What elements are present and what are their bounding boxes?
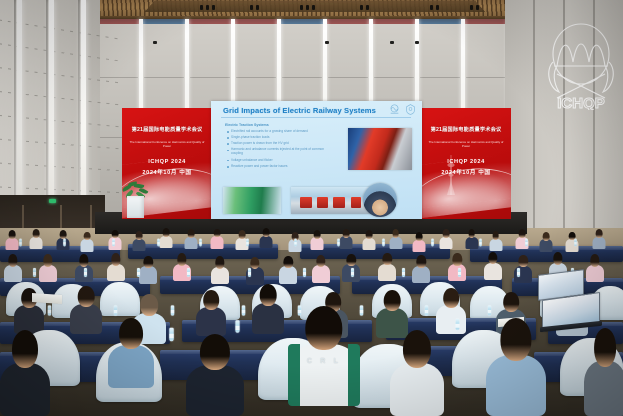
audience-member xyxy=(339,229,352,249)
water-bottle xyxy=(242,305,245,315)
person-torso xyxy=(260,236,273,248)
person-head xyxy=(78,286,95,307)
panel-seam xyxy=(282,77,322,78)
audience-member xyxy=(196,290,226,336)
audience-member xyxy=(81,232,94,252)
audience-member xyxy=(489,231,502,251)
audience-member xyxy=(133,231,146,251)
ceiling-center-beam xyxy=(145,0,486,11)
bullet-item: Single-phase traction loads xyxy=(231,136,335,140)
wall-fixture xyxy=(325,41,329,44)
audience-member xyxy=(390,330,444,416)
banner-code-sub: 2024年10月 中国 xyxy=(421,168,511,176)
person-head xyxy=(416,232,423,241)
ceiling-spotlight xyxy=(212,5,215,10)
ceiling-spotlight xyxy=(200,5,203,10)
water-bottle xyxy=(525,239,528,247)
person-torso xyxy=(196,307,226,336)
water-bottle xyxy=(187,268,190,277)
person-torso xyxy=(211,236,224,248)
person-head xyxy=(442,229,449,238)
person-head xyxy=(260,284,277,306)
panel-seam xyxy=(144,77,184,78)
audience-member xyxy=(439,229,452,249)
person-head xyxy=(443,288,459,308)
person-torso xyxy=(592,237,605,249)
water-bottle xyxy=(63,239,66,247)
audience-member xyxy=(413,232,426,252)
panel-top-strip xyxy=(187,19,233,24)
stage-plant-pot xyxy=(127,196,144,218)
person-torso xyxy=(211,267,229,284)
presenter-video-inset xyxy=(363,183,397,217)
panel-seam xyxy=(236,77,276,78)
university-logo xyxy=(405,104,416,115)
panel-top-strip xyxy=(279,19,325,24)
person-head xyxy=(596,229,603,238)
person-head xyxy=(503,292,519,312)
person-torso xyxy=(0,363,50,416)
laptop xyxy=(542,296,600,330)
water-bottle xyxy=(383,239,386,247)
water-bottle xyxy=(337,239,340,247)
person-head xyxy=(200,334,230,370)
audience-member xyxy=(39,254,57,282)
person-head xyxy=(119,318,143,349)
person-torso xyxy=(4,265,22,282)
person-torso xyxy=(363,238,376,250)
audience-member xyxy=(412,255,430,283)
panel-top-strip xyxy=(95,19,141,24)
audience-member xyxy=(592,229,605,249)
wall-fin xyxy=(533,0,535,250)
person-head xyxy=(214,229,221,238)
person-torso xyxy=(540,239,553,251)
audience-member xyxy=(108,318,154,388)
person-head xyxy=(492,231,499,240)
audience-member xyxy=(108,230,121,250)
person-torso xyxy=(489,239,502,251)
banner-code: ICHQP 2024 xyxy=(122,159,212,165)
audience-member xyxy=(540,232,553,252)
ceiling-spotlight xyxy=(366,5,369,10)
person-head xyxy=(136,231,143,240)
panel-seam xyxy=(190,77,230,78)
banner-title: 第21届国际电能质量学术会议 xyxy=(426,127,505,134)
panel-seam xyxy=(374,77,414,78)
water-bottle xyxy=(19,239,22,247)
person-torso xyxy=(252,303,284,334)
audience-member xyxy=(4,254,22,282)
slide-logo-group xyxy=(389,104,416,115)
person-head xyxy=(9,230,16,239)
water-bottle xyxy=(169,328,174,342)
bullet-item: Electrified rail accounts for a growing … xyxy=(231,130,335,134)
ceiling-spotlight xyxy=(206,5,209,10)
person-torso xyxy=(413,240,426,252)
person-head xyxy=(305,306,342,350)
ceiling-spotlight xyxy=(306,5,309,10)
person-torso xyxy=(312,265,330,282)
panel-top-strip xyxy=(141,19,187,24)
banner-subtitle: The International Conference on Harmonic… xyxy=(127,141,206,148)
audience-member xyxy=(260,228,273,248)
water-bottle xyxy=(137,268,140,277)
person-torso xyxy=(160,236,173,248)
person-torso xyxy=(389,237,402,249)
institution-logo xyxy=(389,104,400,115)
wall-fixture xyxy=(390,41,394,44)
audience-member xyxy=(160,228,173,248)
person-head xyxy=(594,328,616,367)
audience-member xyxy=(584,328,623,416)
person-torso xyxy=(279,266,297,283)
audience-member-crl-jacket: C R L xyxy=(288,306,360,406)
audience-member xyxy=(566,232,579,252)
ceiling-spotlight xyxy=(256,5,259,10)
audience-member xyxy=(6,230,19,250)
water-bottle xyxy=(351,268,354,277)
water-bottle xyxy=(432,239,435,247)
water-bottle xyxy=(425,305,428,315)
ichqp-wall-logo: ICHQP xyxy=(543,14,619,110)
person-torso xyxy=(378,264,396,281)
ceiling-spotlight xyxy=(300,5,303,10)
ichqp-logo-text: ICHQP xyxy=(557,95,605,110)
person-torso xyxy=(39,265,57,282)
wall-fixture xyxy=(153,41,157,44)
audience-member xyxy=(139,256,157,284)
slide-title-underline xyxy=(221,117,411,118)
audience-member xyxy=(310,230,323,250)
table-top xyxy=(128,244,278,248)
person-head xyxy=(239,230,246,239)
station-train xyxy=(300,197,312,208)
water-bottle xyxy=(199,239,202,247)
slide-bullet-list: Electric Traction Systems Electrified ra… xyxy=(225,123,335,171)
person-torso xyxy=(6,238,19,250)
person-torso xyxy=(586,265,604,282)
person-head xyxy=(342,229,349,238)
panel-top-strip xyxy=(371,19,417,24)
audience-member xyxy=(70,286,102,334)
person-torso xyxy=(186,365,244,416)
person-torso xyxy=(70,304,102,334)
panel-top-strip xyxy=(325,19,371,24)
banner-title: 第21届国际电能质量学术会议 xyxy=(127,127,206,134)
right-stage-banner: 第21届国际电能质量学术会议 The International Confere… xyxy=(421,108,511,219)
water-bottle xyxy=(456,319,460,331)
wall-fixture xyxy=(415,41,419,44)
person-torso xyxy=(310,237,323,249)
person-head xyxy=(140,294,158,316)
exit-sign xyxy=(49,199,56,203)
audience-member xyxy=(0,330,50,416)
water-bottle xyxy=(48,305,51,315)
station-train xyxy=(317,197,328,208)
water-bottle xyxy=(574,239,577,247)
water-bottle xyxy=(84,268,87,277)
banner-code-sub: 2024年10月 中国 xyxy=(122,168,212,176)
person-head xyxy=(12,330,38,368)
person-head xyxy=(163,228,170,237)
water-bottle xyxy=(246,239,249,247)
bullet-item: Voltage unbalance and flicker xyxy=(231,159,335,163)
water-bottle xyxy=(112,239,115,247)
water-bottle xyxy=(114,305,117,315)
bullet-heading: Electric Traction Systems xyxy=(225,123,335,127)
audience-member xyxy=(586,254,604,282)
panel-top-strip xyxy=(233,19,279,24)
audience-member xyxy=(279,256,297,284)
ceiling-spotlight xyxy=(360,5,363,10)
panel-top-strip xyxy=(417,19,463,24)
person-head xyxy=(384,290,401,311)
audience-member xyxy=(252,284,284,334)
person-torso xyxy=(107,264,125,281)
audience-member xyxy=(389,229,402,249)
water-bottle xyxy=(488,305,491,315)
person-head xyxy=(500,318,531,361)
person-head xyxy=(403,330,431,368)
person-torso xyxy=(484,263,502,280)
person-torso xyxy=(566,239,579,251)
person-torso xyxy=(439,237,452,249)
person-torso xyxy=(139,266,157,283)
ceiling-spotlight xyxy=(430,5,433,10)
audience-member xyxy=(184,229,197,249)
water-bottle xyxy=(33,268,36,277)
person-torso xyxy=(108,345,154,388)
high-speed-train-photo xyxy=(348,128,412,170)
water-bottle xyxy=(458,268,461,277)
banner-code: ICHQP 2024 xyxy=(421,159,511,165)
audience-member xyxy=(363,230,376,250)
audience-member xyxy=(211,229,224,249)
panel-top-strip xyxy=(463,19,509,24)
jacket-stripe xyxy=(348,344,360,406)
audience-member xyxy=(486,318,546,416)
panel-seam xyxy=(420,77,460,78)
audience-member xyxy=(211,256,229,284)
water-bottle xyxy=(360,305,363,315)
water-bottle xyxy=(294,239,297,247)
person-head xyxy=(263,228,270,237)
person-torso xyxy=(465,237,478,249)
person-torso xyxy=(412,266,430,283)
bullet-item: Harmonic and unbalance currents injected… xyxy=(231,148,335,156)
person-head xyxy=(314,230,321,239)
person-head xyxy=(188,229,195,238)
conference-photo: ICHQP 第21届国际电能质量学术会议 The International C… xyxy=(0,0,623,416)
jacket-stripe xyxy=(288,344,300,406)
panel-seam xyxy=(98,77,138,78)
person-torso xyxy=(30,237,43,249)
person-torso xyxy=(339,236,352,248)
panel-seam xyxy=(328,77,368,78)
panel-seam xyxy=(466,77,506,78)
station-train xyxy=(333,197,344,208)
audience-member xyxy=(30,229,43,249)
person-head xyxy=(366,230,373,239)
ceiling-spotlight xyxy=(312,5,315,10)
water-bottle xyxy=(171,305,174,315)
water-bottle xyxy=(303,268,306,277)
audience-member xyxy=(465,229,478,249)
banner-subtitle: The International Conference on Harmonic… xyxy=(426,141,505,148)
person-torso xyxy=(81,239,94,251)
presentation-screen: Grid Impacts of Electric Railway Systems… xyxy=(211,101,422,219)
audience-member xyxy=(186,334,244,416)
person-head xyxy=(60,230,67,239)
ceiling-spotlight xyxy=(470,5,473,10)
bullet-item: Traction power is drawn from the HV grid xyxy=(231,142,335,146)
water-bottle xyxy=(517,268,520,277)
water-bottle xyxy=(157,239,160,247)
green-locomotive-photo xyxy=(223,187,281,214)
person-head xyxy=(392,229,399,238)
bullet-item: Reactive power and power factor issues xyxy=(231,165,335,169)
audience-member xyxy=(484,252,502,280)
person-head xyxy=(111,230,118,239)
station-train xyxy=(351,197,362,208)
person-torso xyxy=(184,237,197,249)
person-torso xyxy=(486,355,546,416)
water-bottle xyxy=(402,268,405,277)
ceiling-spotlight xyxy=(250,5,253,10)
person-head xyxy=(519,229,526,238)
person-head xyxy=(543,232,550,241)
person-head xyxy=(203,290,219,310)
ceiling-spotlight xyxy=(436,5,439,10)
person-torso xyxy=(584,361,623,416)
person-head xyxy=(468,229,475,238)
water-bottle xyxy=(235,320,239,333)
audience-member xyxy=(312,255,330,283)
person-head xyxy=(84,232,91,241)
water-bottle xyxy=(248,268,251,277)
person-torso xyxy=(133,239,146,251)
audience-member xyxy=(436,288,466,334)
audience-member xyxy=(107,253,125,281)
person-torso xyxy=(390,363,444,416)
audience-member xyxy=(378,253,396,281)
person-head xyxy=(33,229,40,238)
person-torso xyxy=(108,237,121,249)
slide-title: Grid Impacts of Electric Railway Systems xyxy=(223,106,376,115)
ceiling-spotlight xyxy=(476,5,479,10)
